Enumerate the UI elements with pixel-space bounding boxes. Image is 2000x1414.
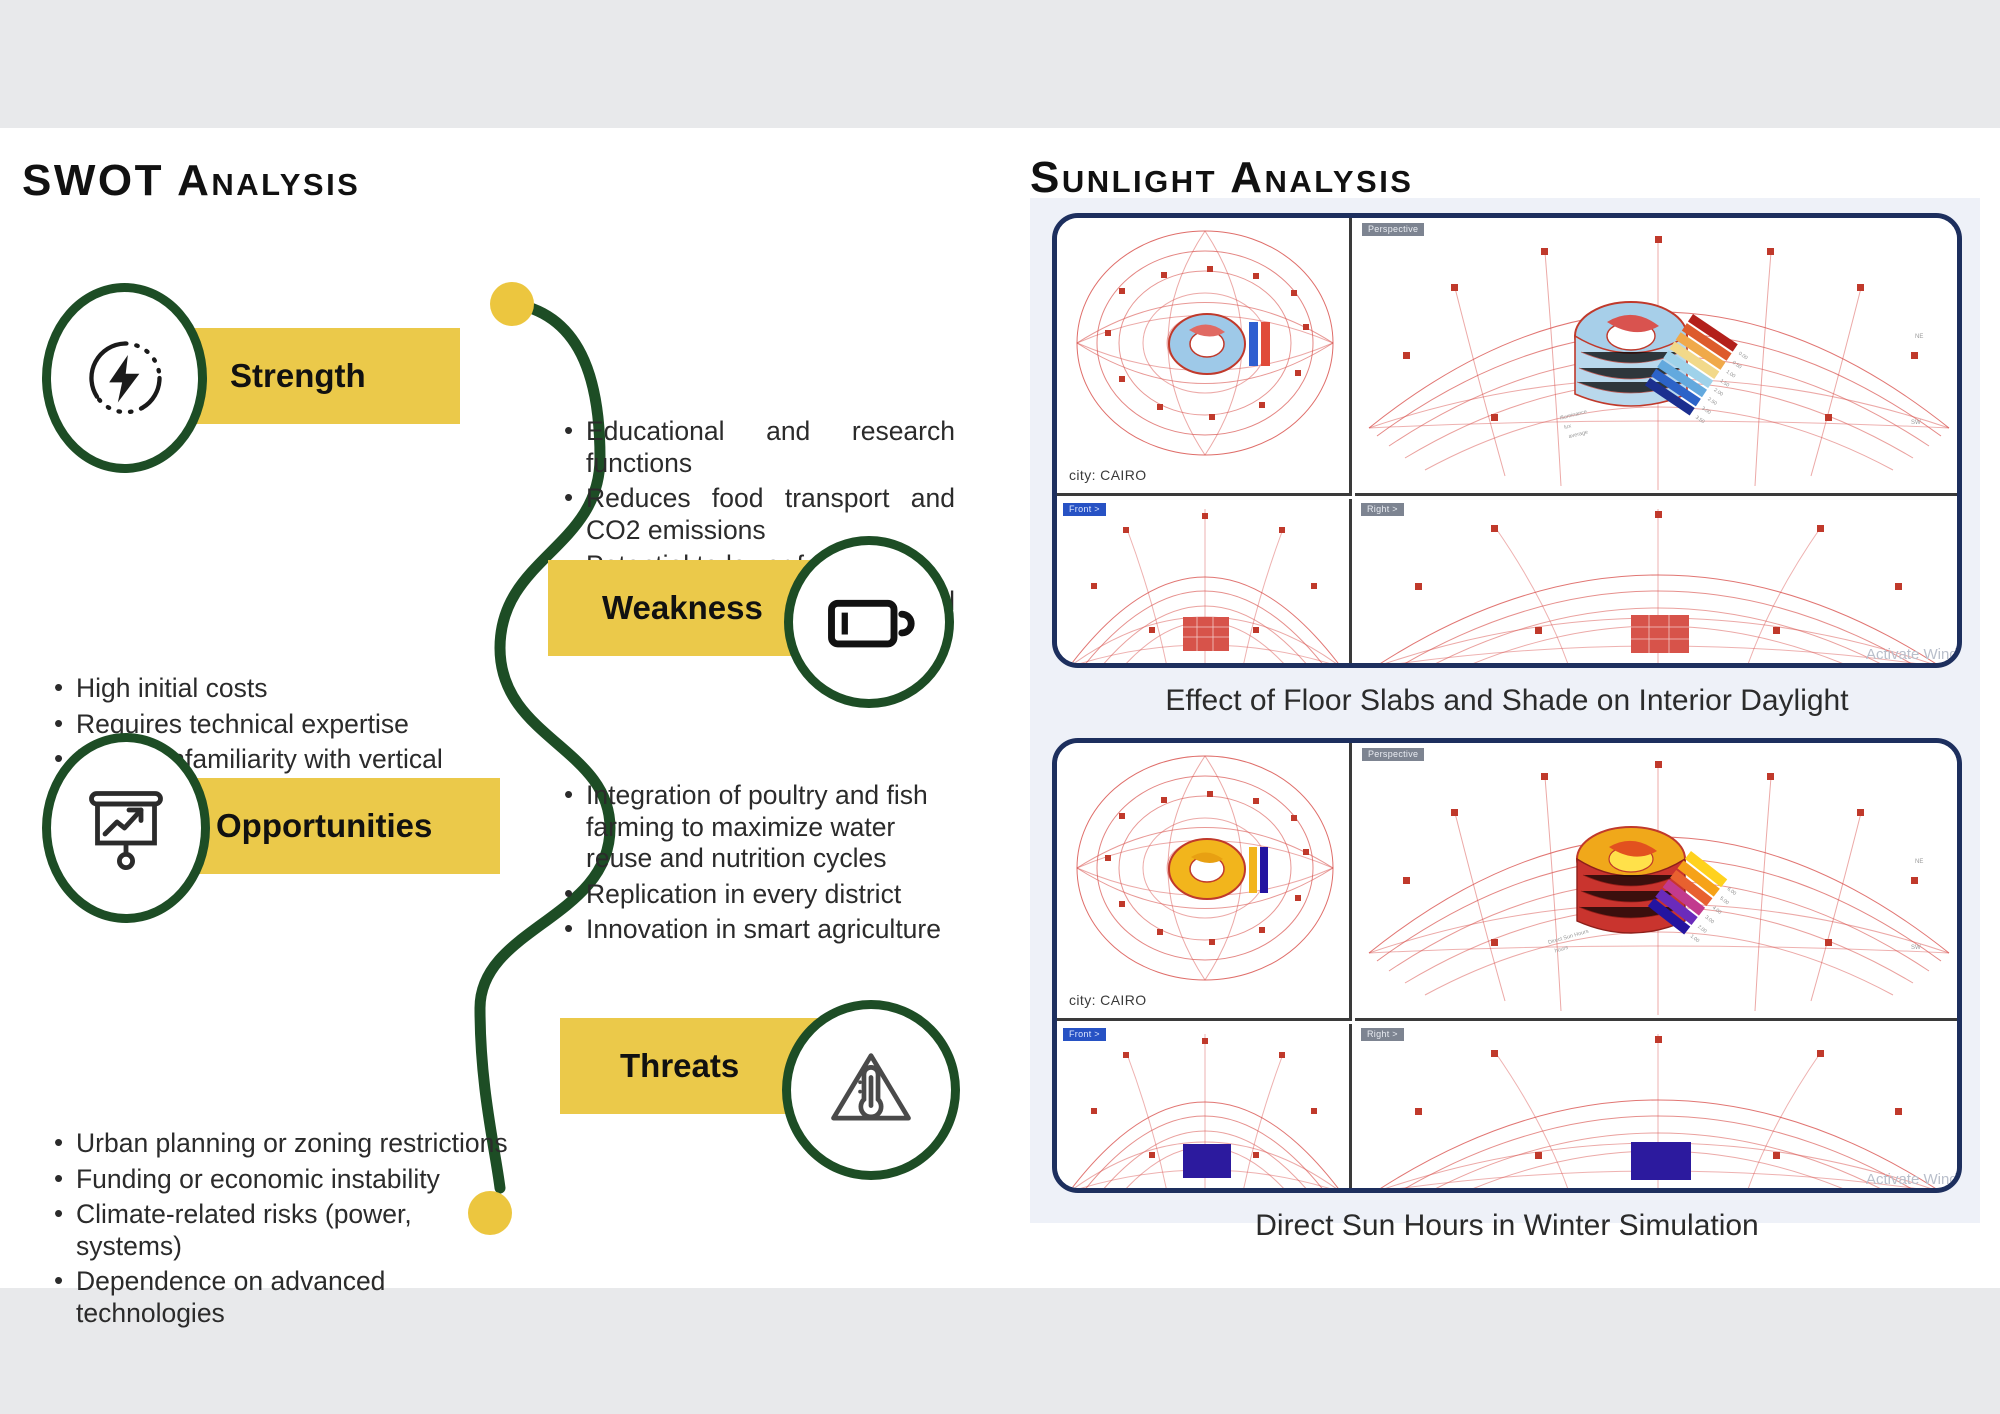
- list-item: Dependence on advanced technologies: [50, 1266, 510, 1329]
- building-model-front-winter: [1183, 1144, 1231, 1178]
- svg-text:SW: SW: [1911, 945, 1921, 951]
- activate-windows-watermark: Activate Windo: [1866, 1171, 1962, 1188]
- svg-text:average: average: [1568, 429, 1589, 440]
- viewport-right-daylight[interactable]: Right >: [1355, 499, 1962, 668]
- svg-text:1.00: 1.00: [1725, 369, 1737, 380]
- svg-text:NE: NE: [1915, 334, 1923, 340]
- svg-text:2.00: 2.00: [1713, 387, 1725, 398]
- slide-canvas: SWOT Analysis Strength Educational and r…: [0, 128, 2000, 1288]
- swot-label-opportunities: Opportunities: [216, 807, 432, 845]
- svg-text:2.50: 2.50: [1706, 396, 1718, 407]
- thermometer-warning-icon: [821, 1040, 921, 1140]
- simulation-panel-daylight[interactable]: city: CAIRO Perspective: [1052, 213, 1962, 668]
- presentation-chart-icon: [78, 780, 174, 876]
- list-item: Replication in every district: [560, 879, 960, 911]
- svg-text:1.00: 1.00: [1689, 933, 1701, 944]
- viewport-perspective-daylight[interactable]: Perspective: [1355, 218, 1962, 496]
- building-model-daylight: [1169, 314, 1270, 374]
- swot-bullets-opportunities: Integration of poultry and fish farming …: [560, 780, 960, 950]
- svg-text:0.50: 0.50: [1731, 360, 1743, 371]
- viewport-label-right[interactable]: Right >: [1361, 503, 1404, 516]
- viewport-front-winter[interactable]: Front >: [1057, 1024, 1352, 1193]
- svg-text:3.00: 3.00: [1700, 406, 1712, 417]
- svg-text:Direct Sun Hours: Direct Sun Hours: [1548, 929, 1590, 946]
- list-item: Funding or economic instability: [50, 1164, 510, 1196]
- viewport-label-front[interactable]: Front >: [1063, 1028, 1106, 1041]
- viewport-label-front[interactable]: Front >: [1063, 503, 1106, 516]
- list-item: Reduces food transport and CO2 emissions: [560, 483, 955, 546]
- building-model-front-daylight: [1183, 617, 1229, 651]
- svg-text:hours: hours: [1554, 945, 1569, 955]
- swot-icon-circle-threats[interactable]: [782, 1000, 960, 1180]
- viewport-top-winter[interactable]: city: CAIRO: [1057, 743, 1352, 1021]
- sunlight-title: Sunlight Analysis: [1030, 153, 1413, 203]
- swot-section: SWOT Analysis Strength Educational and r…: [0, 128, 1010, 1288]
- simulation-caption-daylight: Effect of Floor Slabs and Shade on Inter…: [1052, 684, 1962, 718]
- lightning-bolt-icon: [79, 332, 171, 424]
- svg-text:0.00: 0.00: [1737, 351, 1749, 362]
- front-elevation-diagram: [1057, 499, 1352, 668]
- swot-label-threats: Threats: [620, 1047, 739, 1085]
- svg-text:SW: SW: [1911, 420, 1921, 426]
- activate-windows-watermark: Activate Windo: [1866, 646, 1962, 663]
- city-label: city: CAIRO: [1069, 992, 1147, 1008]
- viewport-perspective-winter[interactable]: Perspective: [1355, 743, 1962, 1021]
- swot-icon-circle-opportunities[interactable]: [42, 733, 210, 923]
- svg-text:3.50: 3.50: [1694, 415, 1706, 426]
- low-battery-icon: [819, 572, 919, 672]
- right-elevation-diagram: [1355, 499, 1962, 668]
- list-item: High initial costs: [50, 673, 520, 705]
- sunpath-perspective-diagram: 0.000.50 1.001.50 2.002.50 3.003.50 Illu…: [1355, 218, 1962, 496]
- list-item: Innovation in smart agriculture: [560, 914, 960, 946]
- svg-text:NE: NE: [1915, 859, 1923, 865]
- svg-text:lux: lux: [1564, 423, 1573, 431]
- viewport-label-right[interactable]: Right >: [1361, 1028, 1404, 1041]
- simulation-caption-winter: Direct Sun Hours in Winter Simulation: [1052, 1209, 1962, 1243]
- sunpath-plan-diagram: [1057, 218, 1352, 496]
- svg-text:Illuminance: Illuminance: [1559, 409, 1587, 422]
- sunpath-plan-diagram-winter: [1057, 743, 1352, 1021]
- building-model-winter: [1169, 839, 1268, 899]
- sunpath-perspective-diagram-winter: 6.005.00 4.003.00 2.001.00 Direct Sun Ho…: [1355, 743, 1962, 1021]
- path-start-dot: [490, 282, 534, 326]
- viewport-top-daylight[interactable]: city: CAIRO: [1057, 218, 1352, 496]
- front-elevation-diagram-winter: [1057, 1024, 1352, 1193]
- sunlight-section: Sunlight Analysis: [1010, 128, 2000, 1288]
- svg-text:6.00: 6.00: [1726, 886, 1738, 897]
- building-model-right-winter: [1631, 1142, 1691, 1180]
- svg-text:2.00: 2.00: [1696, 924, 1708, 935]
- svg-text:3.00: 3.00: [1704, 915, 1716, 926]
- swot-label-strength: Strength: [230, 357, 366, 395]
- viewport-front-daylight[interactable]: Front >: [1057, 499, 1352, 668]
- building-model-right-daylight: [1631, 615, 1689, 653]
- svg-text:5.00: 5.00: [1718, 896, 1730, 907]
- list-item: Urban planning or zoning restrictions: [50, 1128, 510, 1160]
- viewport-label-perspective[interactable]: Perspective: [1362, 748, 1424, 761]
- simulation-panel-winter-sun-hours[interactable]: city: CAIRO Perspective: [1052, 738, 1962, 1193]
- swot-label-weakness: Weakness: [602, 589, 763, 627]
- list-item: Climate-related risks (power, systems): [50, 1199, 510, 1262]
- list-item: Integration of poultry and fish farming …: [560, 780, 960, 875]
- list-item: Educational and research functions: [560, 416, 955, 479]
- swot-bullets-threats: Urban planning or zoning restrictions Fu…: [50, 1128, 510, 1333]
- swot-icon-circle-weakness[interactable]: [784, 536, 954, 708]
- top-gray-band: [0, 0, 2000, 128]
- viewport-right-winter[interactable]: Right >: [1355, 1024, 1962, 1193]
- swot-icon-circle-strength[interactable]: [42, 283, 207, 473]
- city-label: city: CAIRO: [1069, 467, 1147, 483]
- viewport-label-perspective[interactable]: Perspective: [1362, 223, 1424, 236]
- right-elevation-diagram-winter: [1355, 1024, 1962, 1193]
